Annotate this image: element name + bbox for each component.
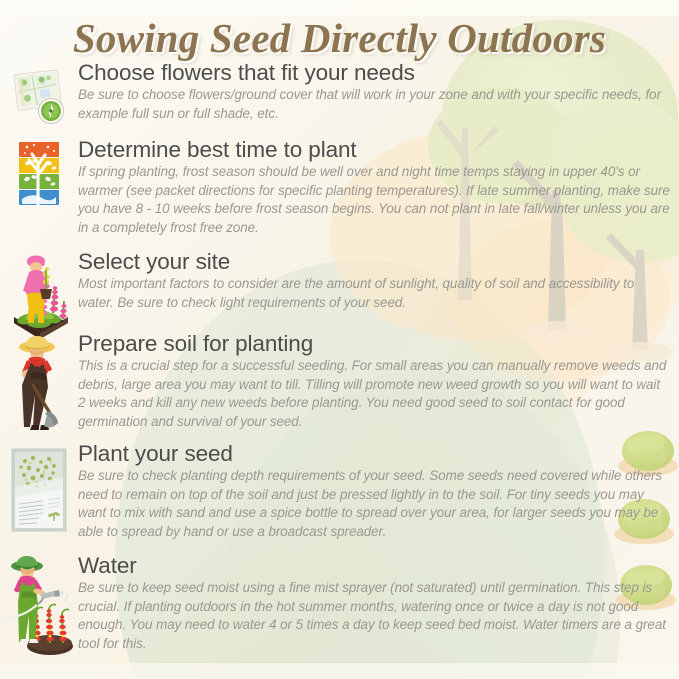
step-text-cell: Choose flowers that fit your needs Be su… — [78, 60, 679, 123]
step-heading: Determine best time to plant — [78, 137, 671, 162]
gardener-with-shovel-icon — [7, 333, 71, 433]
garden-plan-compass-icon — [10, 68, 68, 126]
step-icon-cell — [0, 60, 78, 126]
step-text-cell: Determine best time to plant If spring p… — [78, 137, 679, 237]
step-item: Choose flowers that fit your needs Be su… — [0, 60, 679, 126]
step-item: Determine best time to plant If spring p… — [0, 137, 679, 237]
gardener-watering-icon — [2, 553, 76, 657]
step-item: Plant your seed Be sure to check plantin… — [0, 441, 679, 541]
step-item: Prepare soil for planting This is a cruc… — [0, 331, 679, 433]
step-heading: Select your site — [78, 249, 671, 274]
four-seasons-tree-icon — [13, 141, 65, 207]
step-heading: Plant your seed — [78, 441, 671, 466]
step-text-cell: Select your site Most important factors … — [78, 249, 679, 312]
gardener-planting-flowerbed-icon — [6, 249, 72, 341]
step-text-cell: Prepare soil for planting This is a cruc… — [78, 331, 679, 431]
infographic-poster: Sowing Seed Directly Outdoors — [0, 0, 679, 679]
step-text-cell: Water Be sure to keep seed moist using a… — [78, 553, 679, 653]
step-item: Select your site Most important factors … — [0, 249, 679, 341]
step-body: This is a crucial step for a successful … — [78, 357, 671, 431]
step-body: Be sure to check planting depth requirem… — [78, 467, 671, 541]
seed-packet-icon — [9, 447, 69, 533]
step-icon-cell — [0, 249, 78, 341]
step-icon-cell — [0, 331, 78, 433]
step-body: Be sure to choose flowers/ground cover t… — [78, 86, 671, 123]
poster-title-wrap: Sowing Seed Directly Outdoors — [0, 14, 679, 62]
step-text-cell: Plant your seed Be sure to check plantin… — [78, 441, 679, 541]
step-icon-cell — [0, 553, 78, 657]
step-icon-cell — [0, 441, 78, 533]
page-title: Sowing Seed Directly Outdoors — [73, 14, 606, 62]
step-heading: Choose flowers that fit your needs — [78, 60, 671, 85]
step-body: Be sure to keep seed moist using a fine … — [78, 579, 671, 653]
step-heading: Prepare soil for planting — [78, 331, 671, 356]
step-item: Water Be sure to keep seed moist using a… — [0, 553, 679, 657]
step-body: Most important factors to consider are t… — [78, 275, 671, 312]
step-body: If spring planting, frost season should … — [78, 163, 671, 237]
step-heading: Water — [78, 553, 671, 578]
step-icon-cell — [0, 137, 78, 207]
